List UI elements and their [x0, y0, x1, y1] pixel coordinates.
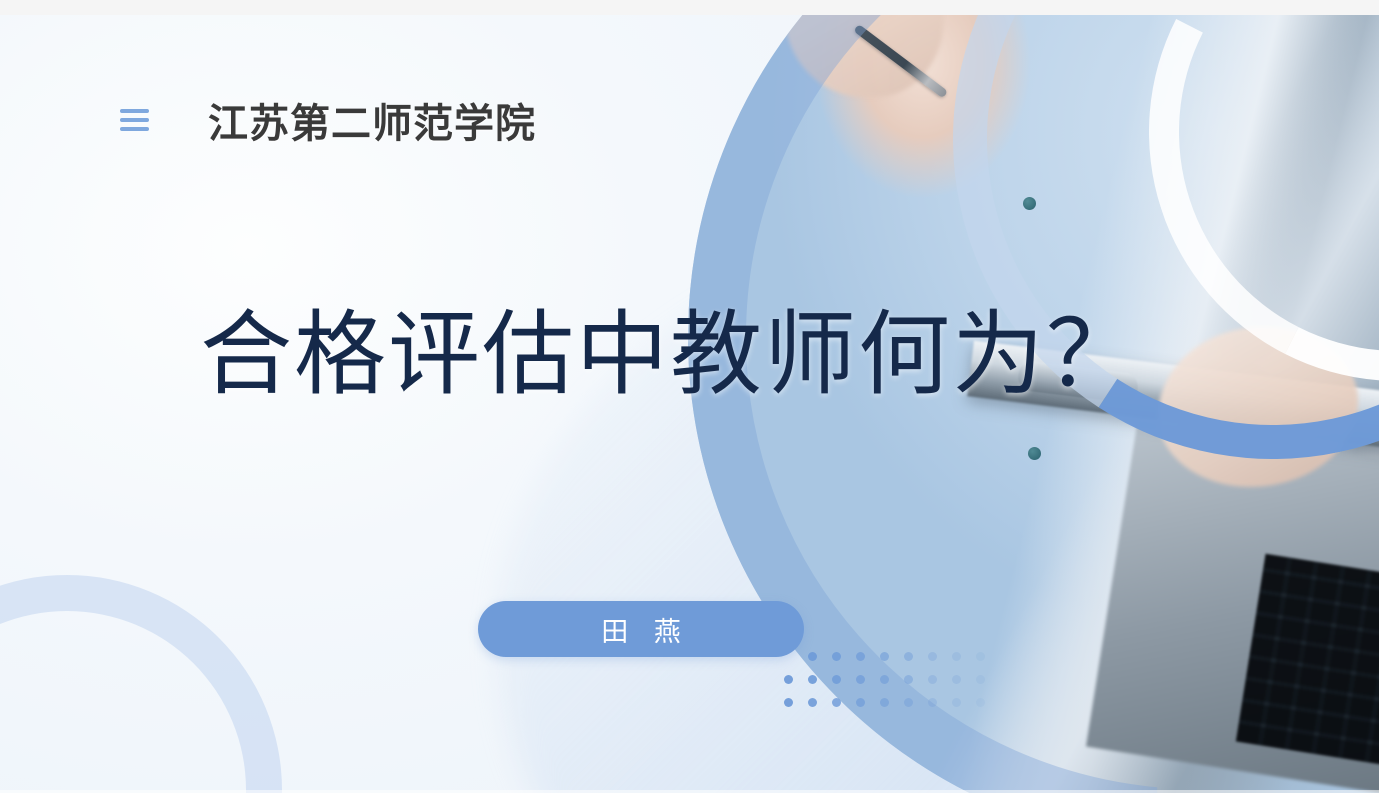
hamburger-line	[120, 118, 149, 122]
dot-grid-dot	[928, 675, 937, 684]
viewer-top-strip	[0, 0, 1379, 15]
presentation-slide-viewer: 江苏第二师范学院 合格评估中教师何为？ 田 燕	[0, 0, 1379, 793]
decorative-dot-grid	[784, 645, 1000, 714]
dot-grid-dot	[784, 675, 793, 684]
dot-grid-dot	[880, 675, 889, 684]
hamburger-menu-icon[interactable]	[120, 105, 150, 135]
dot-grid-dot	[880, 652, 889, 661]
dot-grid-dot	[856, 652, 865, 661]
slide-header: 江苏第二师范学院	[0, 91, 536, 149]
dot-grid-dot	[952, 652, 961, 661]
presenter-name: 田 燕	[592, 610, 690, 649]
dot-grid-dot	[832, 698, 841, 707]
dot-grid-dot	[976, 652, 985, 661]
presenter-badge: 田 燕	[478, 601, 804, 657]
dot-grid-dot	[856, 675, 865, 684]
dot-grid-dot	[808, 698, 817, 707]
dot-grid-dot	[832, 675, 841, 684]
slide-title: 合格评估中教师何为？	[200, 306, 1140, 405]
dot-grid-dot	[904, 675, 913, 684]
dot-grid-dot	[880, 698, 889, 707]
dot-grid-dot	[976, 698, 985, 707]
dot-grid-dot	[856, 698, 865, 707]
dot-grid-dot	[952, 698, 961, 707]
dot-grid-dot	[976, 675, 985, 684]
dot-grid-dot	[928, 652, 937, 661]
decorative-ring-bottom-left	[0, 575, 282, 793]
hamburger-line	[120, 109, 149, 113]
hamburger-line	[120, 127, 149, 131]
dot-grid-dot	[808, 652, 817, 661]
dot-grid-dot	[832, 652, 841, 661]
organization-name: 江苏第二师范学院	[208, 91, 536, 149]
dot-grid-dot	[904, 698, 913, 707]
slide-canvas: 江苏第二师范学院 合格评估中教师何为？ 田 燕	[0, 15, 1379, 793]
dot-grid-dot	[952, 675, 961, 684]
dot-grid-dot	[928, 698, 937, 707]
photo-shirt-button	[1028, 447, 1041, 460]
dot-grid-dot	[904, 652, 913, 661]
dot-grid-dot	[808, 675, 817, 684]
dot-grid-dot	[784, 698, 793, 707]
